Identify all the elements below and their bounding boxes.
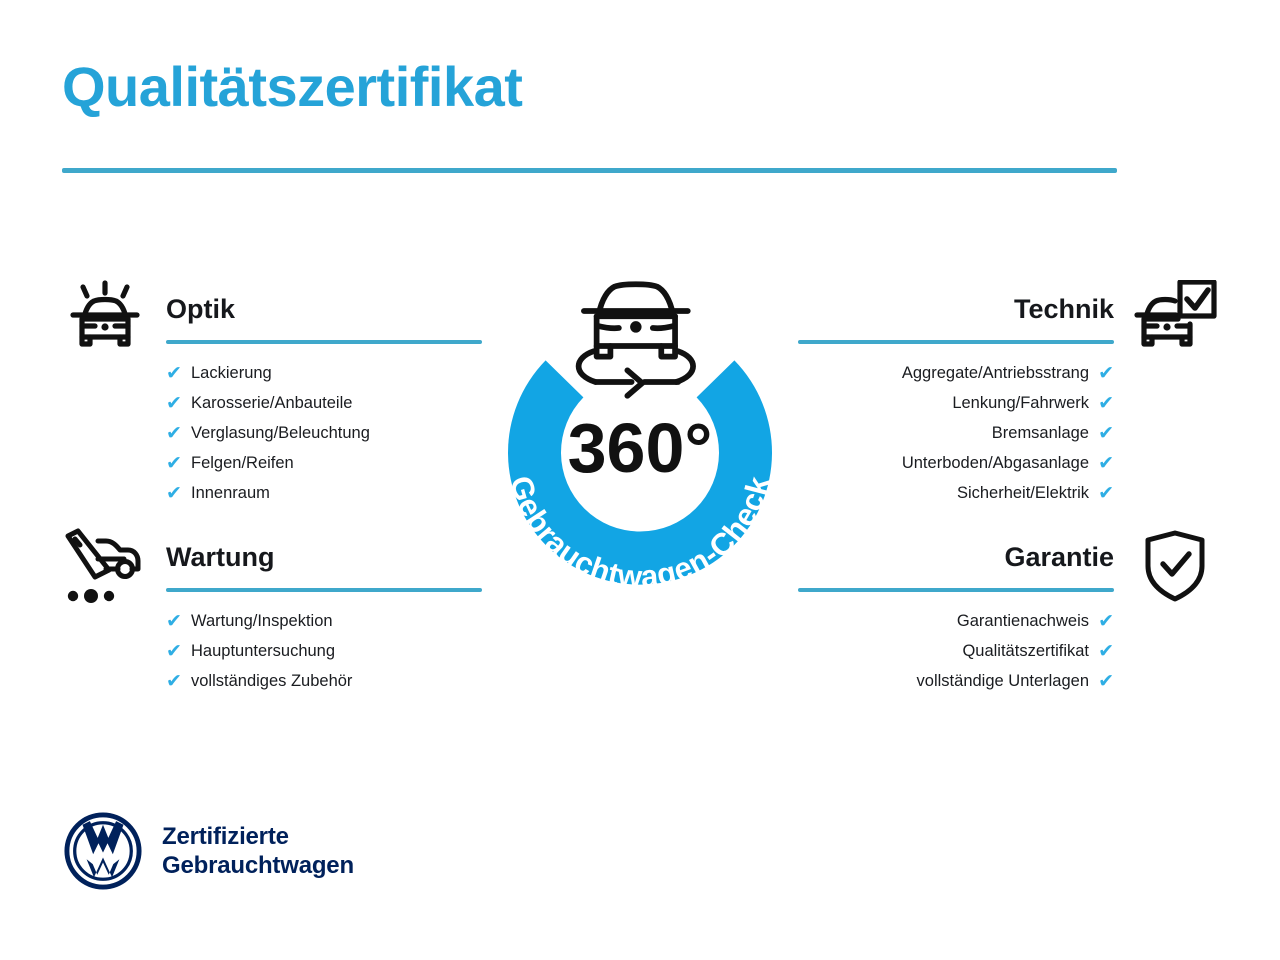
page-title: Qualitätszertifikat <box>62 56 522 118</box>
list-item: Qualitätszertifikat✔ <box>962 636 1114 666</box>
certificate-page: Qualitätszertifikat Optik <box>0 0 1280 960</box>
checklist-optik: ✔Lackierung ✔Karosserie/Anbauteile ✔Verg… <box>166 358 482 508</box>
check-icon: ✔ <box>166 365 183 382</box>
list-item-label: Garantienachweis <box>957 606 1089 636</box>
check-icon: ✔ <box>166 425 183 442</box>
list-item-label: Bremsanlage <box>992 418 1089 448</box>
list-item: vollständige Unterlagen✔ <box>917 666 1114 696</box>
list-item-label: Wartung/Inspektion <box>191 606 333 636</box>
section-header-technik: Technik <box>798 292 1218 344</box>
section-optik: Optik ✔Lackierung ✔Karosserie/Anbauteile… <box>62 292 482 508</box>
badge-center-label: 360° <box>568 409 713 487</box>
check-icon: ✔ <box>1097 673 1114 690</box>
check-icon: ✔ <box>166 673 183 690</box>
list-item-label: Lackierung <box>191 358 272 388</box>
list-item-label: Aggregate/Antriebsstrang <box>902 358 1089 388</box>
check-icon: ✔ <box>1097 485 1114 502</box>
list-item-label: Hauptuntersuchung <box>191 636 335 666</box>
check-icon: ✔ <box>166 643 183 660</box>
list-item: ✔Innenraum <box>166 478 482 508</box>
list-item-label: Karosserie/Anbauteile <box>191 388 352 418</box>
section-header-optik: Optik <box>62 292 482 344</box>
list-item-label: Lenkung/Fahrwerk <box>952 388 1089 418</box>
list-item: ✔vollständiges Zubehör <box>166 666 482 696</box>
list-item: Aggregate/Antriebsstrang✔ <box>902 358 1114 388</box>
section-title: Technik <box>798 292 1114 326</box>
section-divider <box>798 340 1114 344</box>
list-item: ✔Verglasung/Beleuchtung <box>166 418 482 448</box>
section-divider <box>166 340 482 344</box>
list-item-label: vollständige Unterlagen <box>917 666 1089 696</box>
car-rotation-360-icon <box>579 284 693 396</box>
section-technik: Technik Aggregate/Antriebsstrang✔ Lenkun… <box>798 292 1218 508</box>
list-item: ✔Lackierung <box>166 358 482 388</box>
check-icon: ✔ <box>1097 455 1114 472</box>
check-icon: ✔ <box>166 455 183 472</box>
list-item: Sicherheit/Elektrik✔ <box>957 478 1114 508</box>
list-item: ✔Hauptuntersuchung <box>166 636 482 666</box>
section-title: Garantie <box>798 540 1114 574</box>
list-item-label: Qualitätszertifikat <box>962 636 1089 666</box>
section-title: Optik <box>166 292 482 326</box>
checklist-garantie: Garantienachweis✔ Qualitätszertifikat✔ v… <box>798 606 1114 696</box>
section-divider <box>166 588 482 592</box>
list-item: Unterboden/Abgasanlage✔ <box>902 448 1114 478</box>
list-item-label: vollständiges Zubehör <box>191 666 352 696</box>
section-divider <box>798 588 1114 592</box>
check-icon: ✔ <box>1097 395 1114 412</box>
list-item: ✔Wartung/Inspektion <box>166 606 482 636</box>
list-item-label: Verglasung/Beleuchtung <box>191 418 370 448</box>
section-header-wartung: Wartung <box>62 540 482 592</box>
checklist-technik: Aggregate/Antriebsstrang✔ Lenkung/Fahrwe… <box>798 358 1114 508</box>
check-icon: ✔ <box>1097 613 1114 630</box>
title-divider <box>62 168 1117 173</box>
vw-logo-icon <box>62 810 144 892</box>
list-item-label: Unterboden/Abgasanlage <box>902 448 1089 478</box>
list-item-label: Innenraum <box>191 478 270 508</box>
check-icon: ✔ <box>166 485 183 502</box>
checklist-wartung: ✔Wartung/Inspektion ✔Hauptuntersuchung ✔… <box>166 606 482 696</box>
check-icon: ✔ <box>1097 425 1114 442</box>
check-icon: ✔ <box>166 395 183 412</box>
list-item: Lenkung/Fahrwerk✔ <box>952 388 1114 418</box>
section-header-garantie: Garantie <box>798 540 1218 592</box>
list-item: ✔Karosserie/Anbauteile <box>166 388 482 418</box>
list-item-label: Sicherheit/Elektrik <box>957 478 1089 508</box>
check-icon: ✔ <box>1097 365 1114 382</box>
check-icon: ✔ <box>1097 643 1114 660</box>
logo-wordmark: Zertifizierte Gebrauchtwagen <box>162 822 354 880</box>
section-title: Wartung <box>166 540 482 574</box>
badge-360-gebrauchtwagen-check: Gebrauchtwagen-Check 360° <box>470 250 810 640</box>
vw-certified-used-cars-logo: Zertifizierte Gebrauchtwagen <box>62 810 354 892</box>
check-icon: ✔ <box>166 613 183 630</box>
list-item: Garantienachweis✔ <box>957 606 1114 636</box>
section-garantie: Garantie Garantienachweis✔ Qualitätszert… <box>798 540 1218 696</box>
list-item: ✔Felgen/Reifen <box>166 448 482 478</box>
list-item-label: Felgen/Reifen <box>191 448 294 478</box>
list-item: Bremsanlage✔ <box>992 418 1114 448</box>
section-wartung: Wartung ✔Wartung/Inspektion ✔Hauptunters… <box>62 540 482 696</box>
